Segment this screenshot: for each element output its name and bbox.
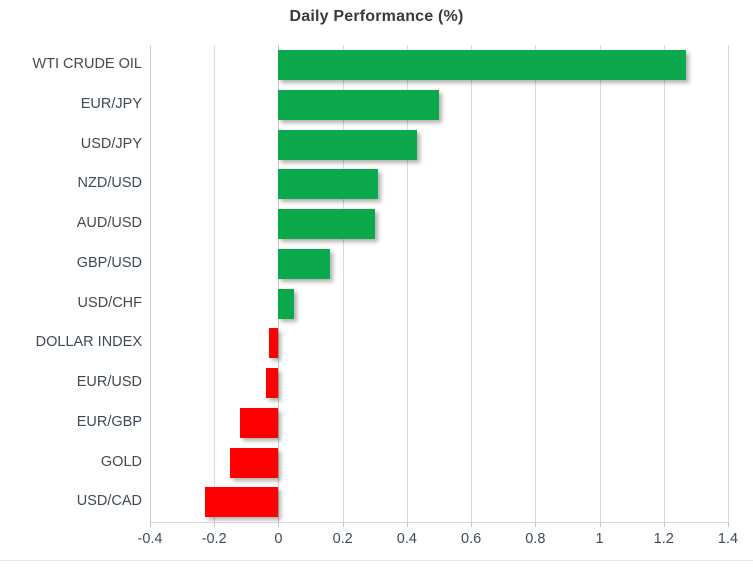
y-axis-line [150, 45, 151, 523]
bar-usd-jpy[interactable] [278, 130, 416, 160]
bar-gold[interactable] [230, 448, 278, 478]
bar-row [150, 284, 728, 324]
bar-row [150, 164, 728, 204]
y-category-label: GBP/USD [0, 244, 142, 284]
bar-row [150, 363, 728, 403]
y-category-label: EUR/USD [0, 363, 142, 403]
y-category-label: USD/CAD [0, 482, 142, 522]
chart-title: Daily Performance (%) [0, 8, 753, 26]
y-category-label: WTI CRUDE OIL [0, 45, 142, 85]
bar-row [150, 85, 728, 125]
x-tick-mark [150, 522, 151, 527]
bar-eur-gbp[interactable] [240, 408, 279, 438]
x-tick-mark [535, 522, 536, 527]
bar-row [150, 443, 728, 483]
bar-row [150, 45, 728, 85]
bar-row [150, 323, 728, 363]
gridline-9 [728, 45, 729, 522]
y-category-label: GOLD [0, 443, 142, 483]
bar-row [150, 403, 728, 443]
bar-row [150, 244, 728, 284]
bar-series [150, 45, 728, 522]
x-tick-label: 0.4 [375, 531, 439, 547]
x-axis-line [150, 522, 728, 523]
bar-gbp-usd[interactable] [278, 249, 329, 279]
y-axis-category-labels: WTI CRUDE OILEUR/JPYUSD/JPYNZD/USDAUD/US… [0, 45, 142, 522]
bar-row [150, 204, 728, 244]
x-tick-mark [728, 522, 729, 527]
x-tick-label: 0.2 [311, 531, 375, 547]
x-tick-label: 1 [568, 531, 632, 547]
x-tick-label: 0.8 [503, 531, 567, 547]
bar-usd-cad[interactable] [205, 487, 279, 517]
x-tick-label: -0.2 [182, 531, 246, 547]
x-tick-mark [471, 522, 472, 527]
bar-row [150, 482, 728, 522]
x-tick-mark [600, 522, 601, 527]
y-category-label: EUR/GBP [0, 403, 142, 443]
x-tick-label: 1.2 [632, 531, 696, 547]
y-category-label: AUD/USD [0, 204, 142, 244]
bar-usd-chf[interactable] [278, 289, 294, 319]
x-tick-mark [407, 522, 408, 527]
chart-container: Daily Performance (%) WTI CRUDE OILEUR/J… [0, 0, 753, 568]
bar-aud-usd[interactable] [278, 209, 374, 239]
bottom-divider [0, 560, 753, 561]
x-tick-label: 0.6 [439, 531, 503, 547]
y-category-label: EUR/JPY [0, 85, 142, 125]
bar-dollar-index[interactable] [269, 328, 279, 358]
plot-area [150, 45, 728, 522]
y-category-label: USD/CHF [0, 284, 142, 324]
y-category-label: DOLLAR INDEX [0, 323, 142, 363]
x-tick-label: 1.4 [696, 531, 753, 547]
x-tick-mark [343, 522, 344, 527]
y-category-label: NZD/USD [0, 164, 142, 204]
x-tick-mark [278, 522, 279, 527]
y-category-label: USD/JPY [0, 125, 142, 165]
x-tick-label: 0 [246, 531, 310, 547]
bar-wti-crude-oil[interactable] [278, 50, 686, 80]
bar-eur-usd[interactable] [266, 368, 279, 398]
x-tick-mark [664, 522, 665, 527]
bar-nzd-usd[interactable] [278, 169, 378, 199]
bar-eur-jpy[interactable] [278, 90, 439, 120]
bar-row [150, 125, 728, 165]
x-tick-mark [214, 522, 215, 527]
x-tick-label: -0.4 [118, 531, 182, 547]
